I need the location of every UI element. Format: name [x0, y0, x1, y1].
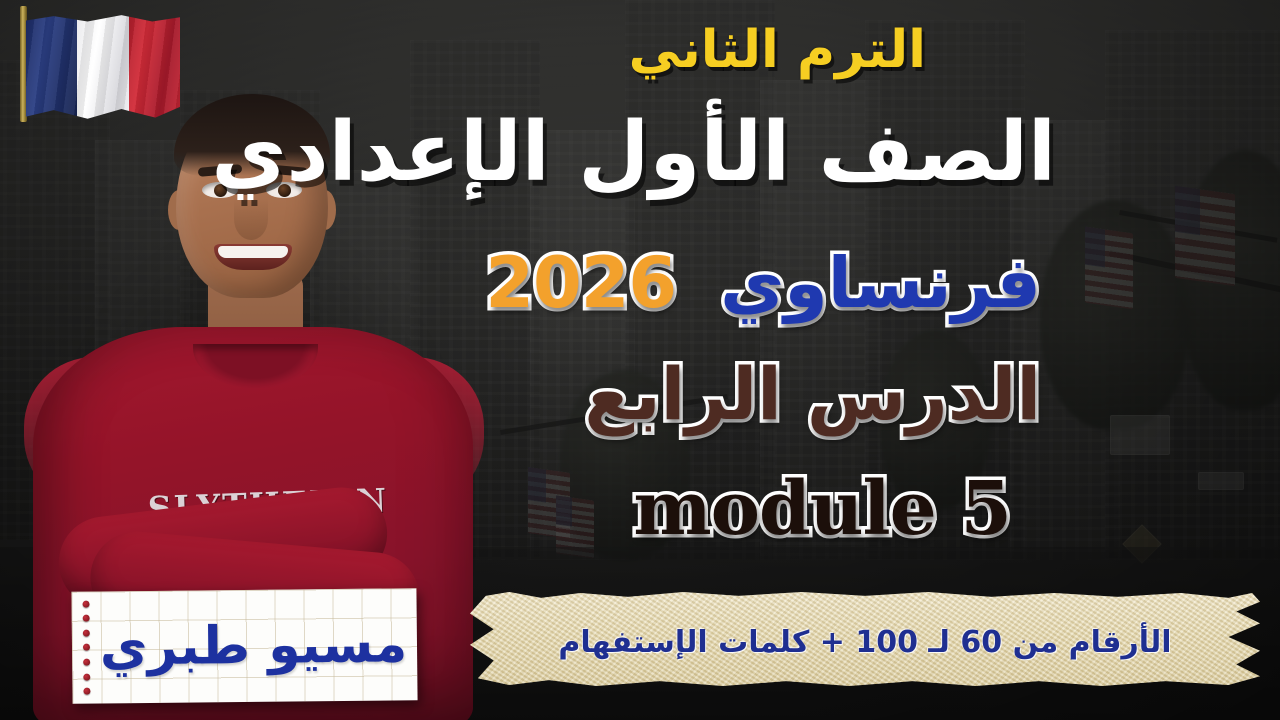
teacher-name-text: مسيو طبري: [100, 614, 408, 677]
notebook-punch-holes: [77, 592, 94, 704]
punch-hole: [82, 615, 89, 622]
punch-hole: [83, 659, 90, 666]
teacher-name-card: مسيو طبري: [71, 588, 417, 704]
punch-hole: [82, 600, 89, 607]
topic-banner: الأرقام من 60 لـ 100 + كلمات الإستفهام: [470, 590, 1260, 688]
module-title: module 5: [633, 472, 1011, 546]
punch-hole: [82, 644, 89, 651]
presenter-nose: [234, 198, 268, 240]
punch-hole: [83, 688, 90, 695]
year-title: 2026: [485, 242, 676, 324]
topic-banner-text: الأرقام من 60 لـ 100 + كلمات الإستفهام: [558, 625, 1171, 660]
subject-year-row: فرنساوي 2026: [485, 242, 1041, 324]
video-thumbnail: SLYTHERIN الترم الثاني الصف الأول الإعدا…: [0, 0, 1280, 720]
punch-hole: [83, 673, 90, 680]
presenter-teeth: [218, 246, 288, 258]
lesson-title: الدرس الرابع: [584, 358, 1041, 430]
term-title: الترم الثاني: [629, 24, 926, 76]
grade-title: الصف الأول الإعدادي: [211, 112, 1056, 194]
punch-hole: [82, 630, 89, 637]
subject-title: فرنساوي: [720, 242, 1041, 324]
